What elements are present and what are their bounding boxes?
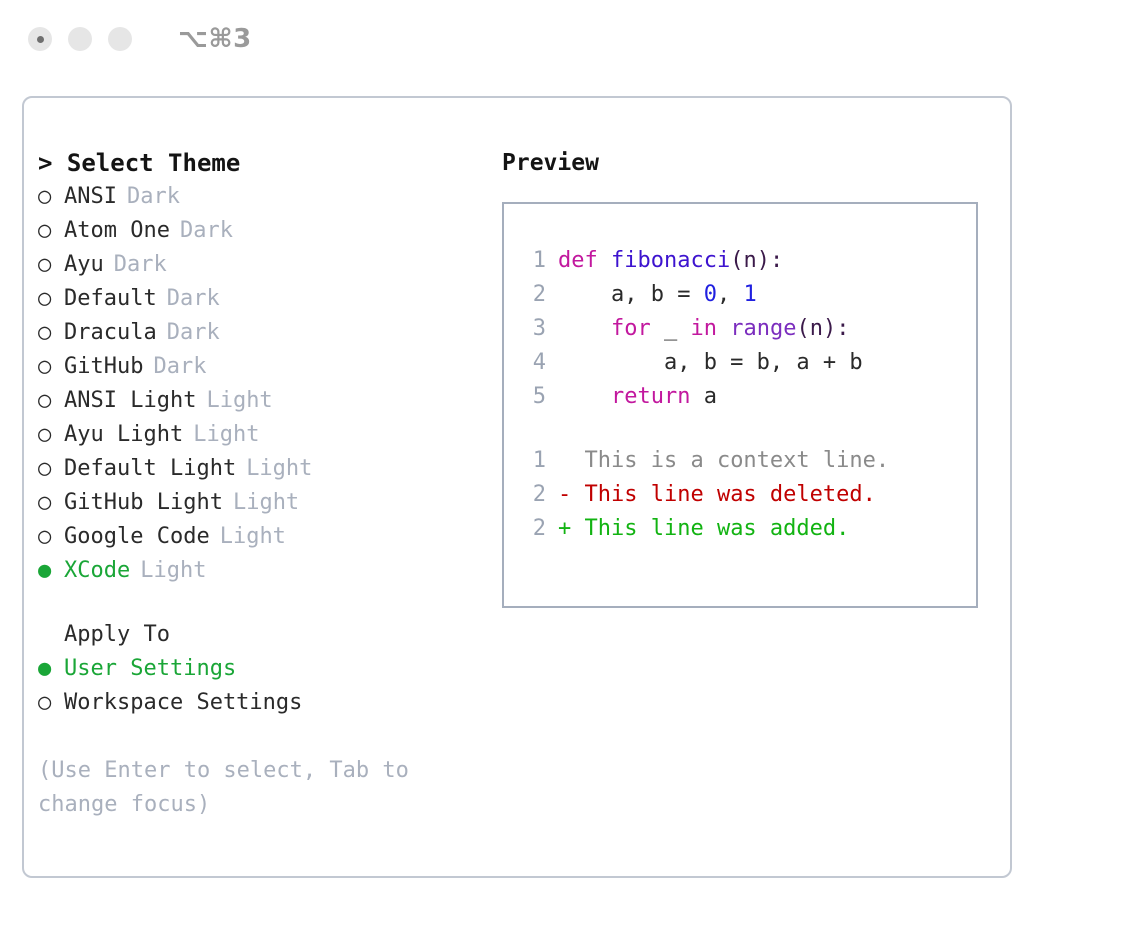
window-dot-close[interactable]: [28, 27, 52, 51]
code-token-call: range: [730, 316, 796, 341]
theme-selection-column: > Select Theme ○ANSIDark○Atom OneDark○Ay…: [38, 146, 478, 822]
code-token-kw: def: [558, 248, 611, 273]
line-number: 4: [520, 346, 546, 380]
code-token-txt: _: [651, 316, 691, 341]
radio-unselected-icon[interactable]: ○: [38, 686, 64, 720]
code-line: 2 a, b = 0, 1: [504, 278, 976, 312]
line-number: 2: [520, 512, 546, 546]
theme-option-category: Light: [233, 486, 299, 520]
code-line-content: return a: [558, 380, 717, 414]
theme-option-category: Light: [193, 418, 259, 452]
theme-option-label: ANSI: [64, 180, 117, 214]
radio-unselected-icon[interactable]: ○: [38, 248, 64, 282]
code-token-num: 0: [704, 282, 717, 307]
diff-marker: -: [558, 482, 571, 507]
line-number: 2: [520, 478, 546, 512]
theme-option-category: Light: [206, 384, 272, 418]
theme-option-xcode[interactable]: ●XCodeLight: [38, 554, 478, 588]
line-number: 3: [520, 312, 546, 346]
line-number: 5: [520, 380, 546, 414]
theme-option-ansi[interactable]: ○ANSIDark: [38, 180, 478, 214]
theme-option-default[interactable]: ○DefaultDark: [38, 282, 478, 316]
code-token-kw: return: [611, 384, 690, 409]
theme-option-google-code[interactable]: ○Google CodeLight: [38, 520, 478, 554]
radio-unselected-icon[interactable]: ○: [38, 452, 64, 486]
theme-option-label: Default Light: [64, 452, 236, 486]
theme-option-github[interactable]: ○GitHubDark: [38, 350, 478, 384]
theme-option-label: Ayu Light: [64, 418, 183, 452]
apply-to-option-label: Workspace Settings: [64, 686, 302, 720]
theme-option-label: XCode: [64, 554, 130, 588]
radio-unselected-icon[interactable]: ○: [38, 282, 64, 316]
code-line-content: a, b = 0, 1: [558, 278, 757, 312]
diff-line: 2+ This line was added.: [504, 512, 976, 546]
theme-option-category: Light: [220, 520, 286, 554]
radio-unselected-icon[interactable]: ○: [38, 180, 64, 214]
theme-option-label: Atom One: [64, 214, 170, 248]
diff-line-text: This line was added.: [571, 516, 849, 541]
radio-unselected-icon[interactable]: ○: [38, 486, 64, 520]
line-number: 1: [520, 444, 546, 478]
code-token-txt: [558, 384, 611, 409]
title-bar: ⌥⌘3: [0, 0, 1140, 78]
apply-to-option-label: User Settings: [64, 652, 236, 686]
preview-box: 1def fibonacci(n):2 a, b = 0, 13 for _ i…: [502, 202, 978, 608]
code-line: 5 return a: [504, 380, 976, 414]
code-token-pun: (n):: [730, 248, 783, 273]
main-panel: > Select Theme ○ANSIDark○Atom OneDark○Ay…: [22, 96, 1012, 878]
app-window: ⌥⌘3 > Select Theme ○ANSIDark○Atom OneDar…: [0, 0, 1140, 934]
diff-line-content: - This line was deleted.: [558, 478, 876, 512]
diff-marker: [558, 448, 571, 473]
code-preview: 1def fibonacci(n):2 a, b = 0, 13 for _ i…: [504, 244, 976, 414]
code-line: 1def fibonacci(n):: [504, 244, 976, 278]
theme-option-label: Google Code: [64, 520, 210, 554]
diff-line-content: + This line was added.: [558, 512, 849, 546]
theme-option-category: Dark: [180, 214, 233, 248]
apply-to-list[interactable]: ●User Settings○Workspace Settings: [38, 652, 478, 720]
radio-selected-icon[interactable]: ●: [38, 652, 64, 686]
theme-option-label: Default: [64, 282, 157, 316]
code-token-kw: for: [611, 316, 651, 341]
window-dot-minimize[interactable]: [68, 27, 92, 51]
code-token-kw: in: [690, 316, 717, 341]
code-token-fn: fibonacci: [611, 248, 730, 273]
keyboard-shortcut-label: ⌥⌘3: [178, 24, 252, 54]
code-token-txt: ,: [717, 282, 744, 307]
code-token-txt: [558, 316, 611, 341]
code-token-txt: [717, 316, 730, 341]
theme-list[interactable]: ○ANSIDark○Atom OneDark○AyuDark○DefaultDa…: [38, 180, 478, 588]
theme-option-atom-one[interactable]: ○Atom OneDark: [38, 214, 478, 248]
diff-preview: 1 This is a context line.2- This line wa…: [504, 444, 976, 546]
diff-line-content: This is a context line.: [558, 444, 889, 478]
help-text: (Use Enter to select, Tab to change focu…: [38, 754, 438, 822]
theme-option-label: GitHub: [64, 350, 143, 384]
theme-option-label: Ayu: [64, 248, 104, 282]
theme-option-ayu-light[interactable]: ○Ayu LightLight: [38, 418, 478, 452]
window-dot-maximize[interactable]: [108, 27, 132, 51]
theme-option-category: Light: [246, 452, 312, 486]
preview-column: Preview 1def fibonacci(n):2 a, b = 0, 13…: [502, 146, 992, 608]
spacer: [504, 414, 976, 444]
diff-marker: +: [558, 516, 571, 541]
radio-unselected-icon[interactable]: ○: [38, 418, 64, 452]
page-title: > Select Theme: [38, 146, 478, 180]
code-line-content: for _ in range(n):: [558, 312, 849, 346]
radio-unselected-icon[interactable]: ○: [38, 316, 64, 350]
spacer: [38, 588, 478, 618]
radio-selected-icon[interactable]: ●: [38, 554, 64, 588]
radio-unselected-icon[interactable]: ○: [38, 520, 64, 554]
theme-option-category: Dark: [127, 180, 180, 214]
diff-line: 1 This is a context line.: [504, 444, 976, 478]
theme-option-category: Dark: [153, 350, 206, 384]
apply-to-option-workspace-settings[interactable]: ○Workspace Settings: [38, 686, 478, 720]
theme-option-category: Dark: [114, 248, 167, 282]
radio-unselected-icon[interactable]: ○: [38, 214, 64, 248]
preview-title: Preview: [502, 146, 992, 180]
apply-to-label: Apply To: [38, 618, 478, 652]
theme-option-ayu[interactable]: ○AyuDark: [38, 248, 478, 282]
code-token-pun: (n):: [796, 316, 849, 341]
code-line-content: def fibonacci(n):: [558, 244, 783, 278]
line-number: 1: [520, 244, 546, 278]
code-token-num: 1: [743, 282, 756, 307]
diff-line-text: This line was deleted.: [571, 482, 876, 507]
code-token-txt: a, b = b, a + b: [558, 350, 863, 375]
theme-option-dracula[interactable]: ○DraculaDark: [38, 316, 478, 350]
code-line-content: a, b = b, a + b: [558, 346, 863, 380]
code-line: 3 for _ in range(n):: [504, 312, 976, 346]
theme-option-label: ANSI Light: [64, 384, 196, 418]
theme-option-default-light[interactable]: ○Default LightLight: [38, 452, 478, 486]
theme-option-ansi-light[interactable]: ○ANSI LightLight: [38, 384, 478, 418]
line-number: 2: [520, 278, 546, 312]
theme-option-github-light[interactable]: ○GitHub LightLight: [38, 486, 478, 520]
diff-line-text: This is a context line.: [571, 448, 889, 473]
window-dot-active-indicator: [37, 36, 44, 43]
radio-unselected-icon[interactable]: ○: [38, 384, 64, 418]
code-token-txt: a: [690, 384, 717, 409]
diff-line: 2- This line was deleted.: [504, 478, 976, 512]
theme-option-label: Dracula: [64, 316, 157, 350]
code-line: 4 a, b = b, a + b: [504, 346, 976, 380]
radio-unselected-icon[interactable]: ○: [38, 350, 64, 384]
theme-option-category: Light: [140, 554, 206, 588]
theme-option-category: Dark: [167, 316, 220, 350]
code-token-txt: a, b =: [558, 282, 704, 307]
window-controls: [28, 27, 132, 51]
theme-option-category: Dark: [167, 282, 220, 316]
apply-to-option-user-settings[interactable]: ●User Settings: [38, 652, 478, 686]
theme-option-label: GitHub Light: [64, 486, 223, 520]
